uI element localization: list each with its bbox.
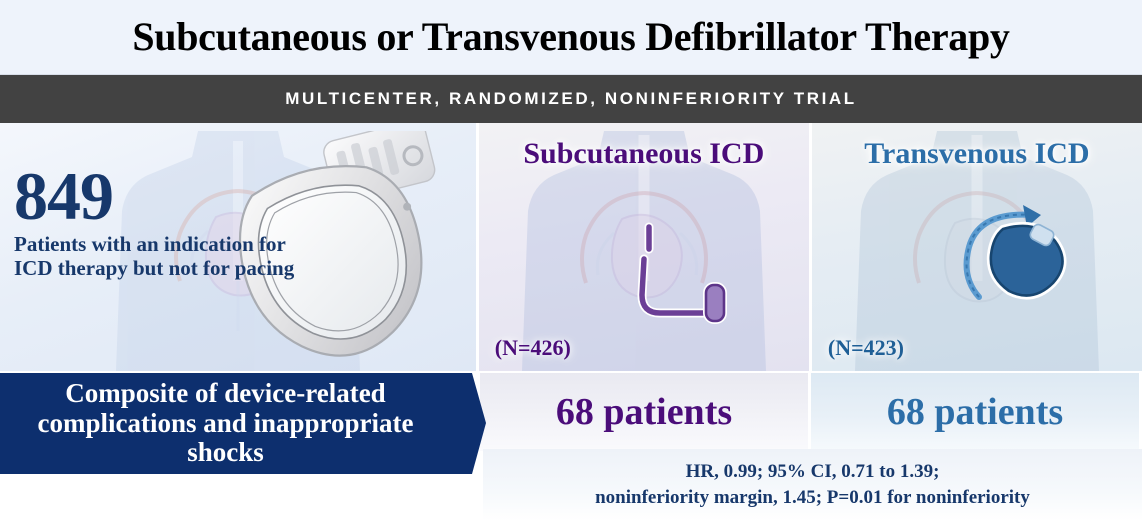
result-cell-transvenous: 68 patients (811, 373, 1139, 451)
enrollment-description: Patients with an indication for ICD ther… (14, 232, 304, 282)
enrollment-panel: 849 Patients with an indication for ICD … (0, 123, 476, 371)
statistics-band: HR, 0.99; 95% CI, 0.71 to 1.39;noninferi… (483, 449, 1142, 521)
statistics-line-1: HR, 0.99; 95% CI, 0.71 to 1.39; (686, 461, 940, 482)
statistics-text: HR, 0.99; 95% CI, 0.71 to 1.39;noninferi… (595, 459, 1030, 510)
results-row: Composite of device-related complication… (0, 371, 1142, 521)
result-value-transvenous: 68 patients (887, 390, 1063, 434)
arm-title-subcutaneous: Subcutaneous ICD (479, 137, 809, 171)
enrollment-summary: 849 Patients with an indication for ICD … (14, 165, 304, 281)
study-design-label: MULTICENTER, RANDOMIZED, NONINFERIORITY … (285, 89, 857, 109)
infographic-root: Subcutaneous or Transvenous Defibrillato… (0, 0, 1142, 521)
statistics-line-2: noninferiority margin, 1.45; P=0.01 for … (595, 487, 1030, 508)
arm-title-transvenous: Transvenous ICD (812, 137, 1142, 171)
enrollment-count: 849 (14, 165, 304, 228)
arm-panel-transvenous: Transvenous ICD (N=423) (809, 123, 1142, 371)
page-title: Subcutaneous or Transvenous Defibrillato… (132, 17, 1009, 57)
primary-outcome-bar: Composite of device-related complication… (0, 373, 471, 474)
primary-outcome-cell: Composite of device-related complication… (0, 373, 477, 521)
chevron-right-icon (462, 373, 486, 474)
result-value-subcutaneous: 68 patients (556, 390, 732, 434)
result-cell-subcutaneous: 68 patients (480, 373, 808, 451)
primary-outcome-label: Composite of device-related complication… (0, 379, 463, 468)
arm-n-subcutaneous: (N=426) (495, 335, 571, 361)
title-band: Subcutaneous or Transvenous Defibrillato… (0, 0, 1142, 74)
subtitle-band: MULTICENTER, RANDOMIZED, NONINFERIORITY … (0, 74, 1142, 123)
arm-n-transvenous: (N=423) (828, 335, 904, 361)
panels-row: 849 Patients with an indication for ICD … (0, 123, 1142, 371)
arm-panel-subcutaneous: Subcutaneous ICD (N=426) (476, 123, 809, 371)
